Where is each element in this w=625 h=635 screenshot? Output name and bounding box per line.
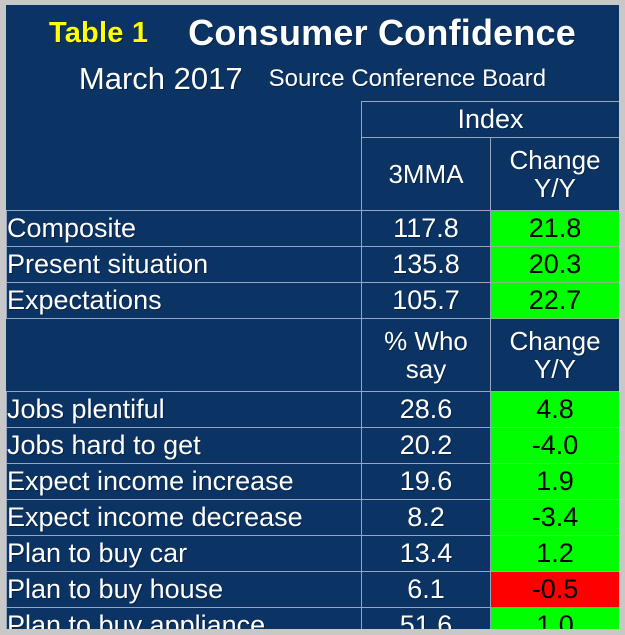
table-row: Plan to buy house 6.1 -0.5 [7,572,620,608]
table-row: Present situation 135.8 20.3 [7,247,620,283]
row-change: 22.7 [491,283,620,319]
row-change: 4.8 [491,392,620,428]
row-change: 1.2 [491,536,620,572]
column-header-change-yy-2: Change Y/Y [491,319,620,392]
data-source-label: Source Conference Board [269,65,547,93]
row-change: 20.3 [491,247,620,283]
row-value: 135.8 [362,247,491,283]
row-change: -3.4 [491,500,620,536]
row-value: 28.6 [362,392,491,428]
column-header-change-line2: Y/Y [491,174,619,202]
spacer-cell [7,319,362,392]
column-header-change2-line1: Change [491,327,619,355]
table-row: Expect income decrease 8.2 -3.4 [7,500,620,536]
row-value: 13.4 [362,536,491,572]
title-row: Table 1 Consumer Confidence [6,11,619,55]
row-label: Expect income increase [7,464,362,500]
row-label: Expect income decrease [7,500,362,536]
group-header-index: Index [362,102,620,138]
table-row: Jobs plentiful 28.6 4.8 [7,392,620,428]
table-subheader-row-index: 3MMA Change Y/Y [7,138,620,211]
column-header-pct-line1: % Who [362,327,490,355]
consumer-confidence-table: Index 3MMA Change Y/Y Composite 117.8 21… [6,101,619,629]
row-change: -0.5 [491,572,620,608]
row-label: Plan to buy car [7,536,362,572]
image-frame: Table 1 Consumer Confidence March 2017 S… [0,0,625,635]
spacer-cell [7,138,362,211]
table-row: Plan to buy car 13.4 1.2 [7,536,620,572]
table-number-label: Table 1 [49,17,148,50]
table-row: Composite 117.8 21.8 [7,211,620,247]
report-period-label: March 2017 [79,61,243,97]
column-header-pct-line2: say [362,355,490,383]
row-value: 8.2 [362,500,491,536]
table-row: Expect income increase 19.6 1.9 [7,464,620,500]
row-label: Jobs plentiful [7,392,362,428]
column-header-change2-line2: Y/Y [491,355,619,383]
table-group-header-row: Index [7,102,620,138]
column-header-change-line1: Change [491,146,619,174]
row-value: 6.1 [362,572,491,608]
spacer-cell [7,102,362,138]
page-title: Consumer Confidence [188,12,576,54]
row-value: 51.6 [362,608,491,630]
subtitle-row: March 2017 Source Conference Board [6,60,619,98]
row-label: Plan to buy appliance [7,608,362,630]
table-panel: Table 1 Consumer Confidence March 2017 S… [6,5,619,629]
row-change: 21.8 [491,211,620,247]
row-label: Composite [7,211,362,247]
row-label: Plan to buy house [7,572,362,608]
row-label: Present situation [7,247,362,283]
column-header-change-yy: Change Y/Y [491,138,620,211]
row-value: 105.7 [362,283,491,319]
table-row: Plan to buy appliance 51.6 1.0 [7,608,620,630]
column-header-pct-who-say: % Who say [362,319,491,392]
table-row: Expectations 105.7 22.7 [7,283,620,319]
row-change: -4.0 [491,428,620,464]
row-change: 1.9 [491,464,620,500]
table-subheader-row-pct: % Who say Change Y/Y [7,319,620,392]
table-row: Jobs hard to get 20.2 -4.0 [7,428,620,464]
row-value: 19.6 [362,464,491,500]
column-header-3mma: 3MMA [362,138,491,211]
row-label: Jobs hard to get [7,428,362,464]
row-label: Expectations [7,283,362,319]
row-change: 1.0 [491,608,620,630]
row-value: 20.2 [362,428,491,464]
row-value: 117.8 [362,211,491,247]
